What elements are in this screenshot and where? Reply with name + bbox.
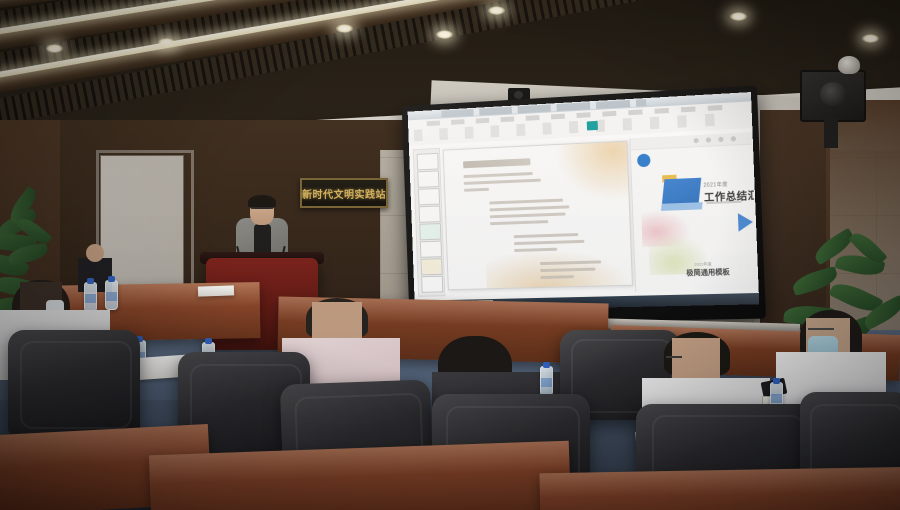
paper-stack (198, 285, 234, 296)
downlight (488, 6, 505, 15)
ribbon-highlight-icon[interactable] (587, 121, 598, 131)
water-bottle (84, 282, 97, 312)
large-wall-display[interactable]: 2021年度 工作总结汇报 2021年度 极简通用模板 (408, 92, 760, 311)
slide-decor-top (555, 140, 633, 202)
slide-thumbnail[interactable] (419, 223, 441, 240)
attendee-5-glasses (808, 328, 834, 334)
blue-folder-icon-lip (661, 202, 703, 211)
slide-heading (463, 158, 530, 168)
conference-room-photo: 新时代文明实践站 (0, 0, 900, 510)
water-bottle (105, 280, 118, 310)
attendee-4-glasses (666, 356, 682, 362)
slide-thumbnail[interactable] (417, 153, 439, 171)
downlight (436, 30, 453, 39)
office-chair[interactable] (8, 330, 140, 438)
speaker-cone-icon (820, 82, 846, 106)
wall-plaque-text: 新时代文明实践站 (302, 186, 386, 201)
preview-subtitle-rule (706, 201, 741, 204)
foreground-table-right (540, 467, 900, 510)
downlight (46, 44, 63, 53)
presenter-glasses (251, 207, 273, 213)
slide-thumbnail[interactable] (421, 258, 443, 275)
water-bottle (540, 366, 553, 396)
downlight (336, 24, 353, 33)
speaker-mount (824, 118, 838, 148)
slide-thumbnail[interactable] (418, 188, 440, 205)
active-slide[interactable] (443, 140, 633, 290)
slide-thumbnail[interactable] (417, 170, 439, 187)
wall-plaque: 新时代文明实践站 (300, 178, 388, 208)
template-preview-pane[interactable]: 2021年度 工作总结汇报 2021年度 极简通用模板 (629, 132, 757, 291)
downlight (730, 12, 747, 21)
slide-thumbnail[interactable] (419, 205, 441, 222)
slide-thumbnail-panel[interactable] (413, 148, 446, 297)
downlight (158, 38, 175, 47)
preview-footer: 极简通用模板 (686, 267, 730, 278)
downlight (862, 34, 879, 43)
slide-thumbnail[interactable] (421, 276, 443, 293)
attendee-6-head (86, 244, 104, 262)
preview-badge-icon (637, 154, 651, 168)
dome-camera (838, 56, 860, 74)
slide-thumbnail[interactable] (420, 241, 442, 258)
preview-arrow-icon (738, 213, 753, 232)
